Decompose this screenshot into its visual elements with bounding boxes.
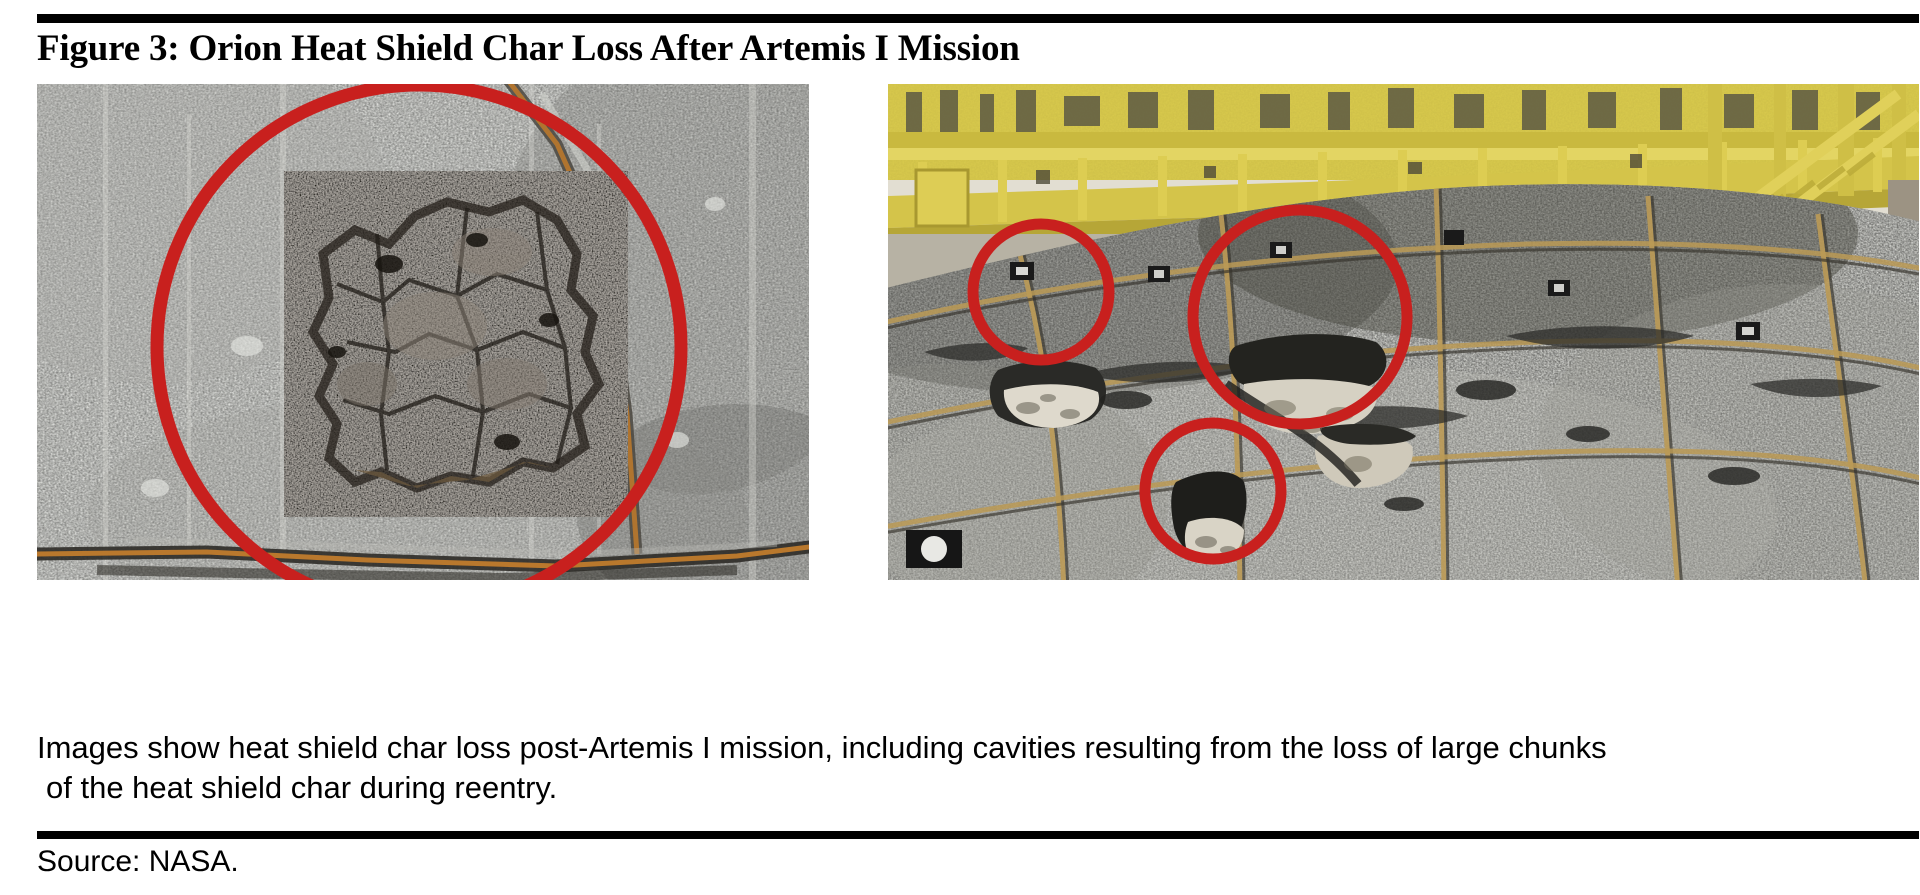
right-photo xyxy=(888,84,1919,580)
left-photo xyxy=(37,84,809,580)
heat-shield-closeup-image xyxy=(37,84,809,580)
figure-images xyxy=(37,84,1919,580)
cavity-left xyxy=(990,361,1106,428)
figure-title: Figure 3: Orion Heat Shield Char Loss Af… xyxy=(37,27,1737,71)
top-rule xyxy=(37,14,1919,23)
caption-line-1: Images show heat shield char loss post-A… xyxy=(37,728,1907,768)
figure-container: Figure 3: Orion Heat Shield Char Loss Af… xyxy=(0,0,1920,895)
heat-shield-wide-image xyxy=(888,84,1919,580)
bottom-rule xyxy=(37,831,1919,839)
source-note: Source: NASA. xyxy=(37,843,239,881)
caption-line-2: of the heat shield char during reentry. xyxy=(37,768,1907,808)
figure-caption: Images show heat shield char loss post-A… xyxy=(37,728,1907,808)
